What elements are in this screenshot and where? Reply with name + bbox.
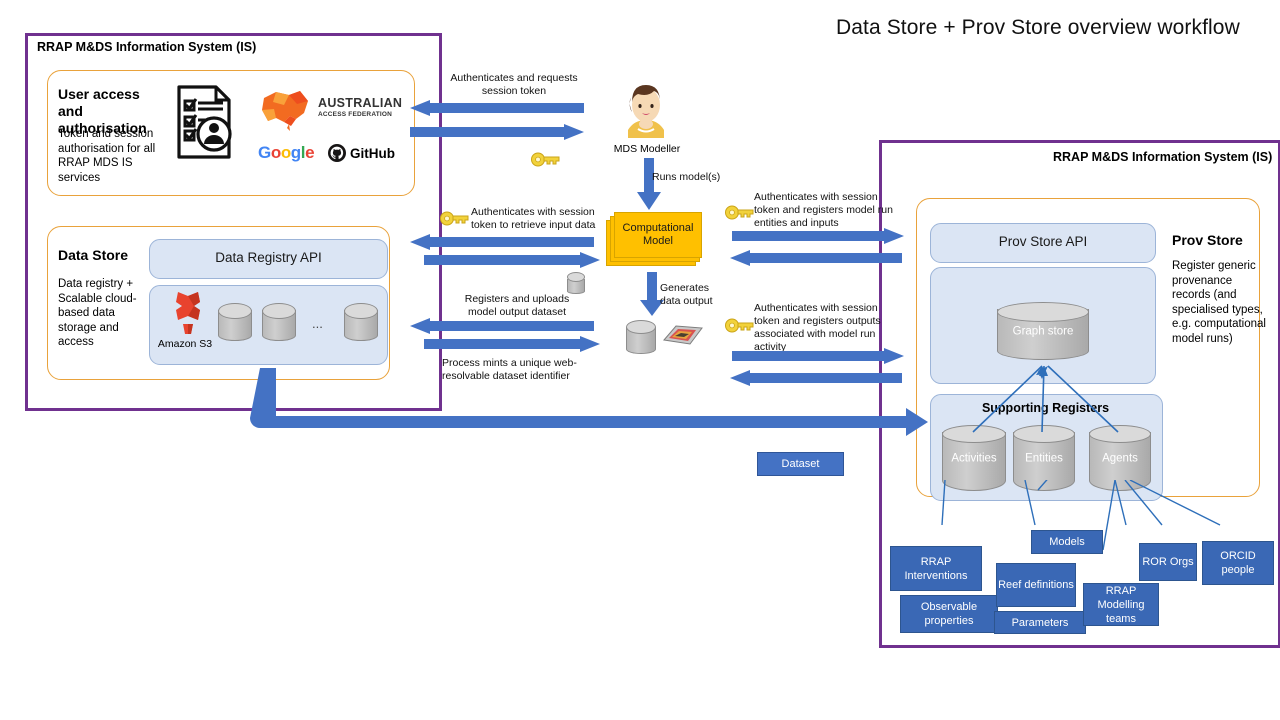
mint-identifier-arrow-right [424,336,600,352]
auth-request-arrow-left [410,100,584,116]
auth-request-label: Authenticates and requests session token [447,72,581,98]
register-box-label: Reef definitions [998,578,1074,592]
register-run-entities-label: Authenticates with session token and reg… [754,191,904,230]
data-cylinder [262,303,296,341]
runs-model-arrow [637,158,661,210]
prov-store-api-box[interactable]: Prov Store API [930,223,1156,263]
output-cylinder [626,320,656,354]
storage-ellipsis: ... [312,316,323,331]
register-cylinder-activities[interactable]: Activities [942,425,1006,491]
amazon-s3-icon [172,290,204,336]
register-box-label: RRAP Interventions [891,555,981,583]
register-box-label: ORCID people [1203,549,1273,577]
register-run-entities-arrow-left [730,250,902,266]
retrieve-input-label: Authenticates with session token to retr… [471,206,611,232]
register-box-label: Models [1049,535,1084,549]
right-frame-title: RRAP M&DS Information System (IS) [1053,150,1272,164]
diagram-canvas: Data Store + Prov Store overview workflo… [0,0,1280,720]
register-box-reef-definitions[interactable]: Reef definitions [996,563,1076,607]
github-icon [328,144,346,162]
data-cylinder [344,303,378,341]
github-logo: GitHub [328,143,404,163]
prov-store-api-label: Prov Store API [931,234,1155,249]
data-registry-api-box[interactable]: Data Registry API [149,239,388,279]
checklist-person-icon [176,84,234,160]
register-box-label: Observable properties [901,600,997,628]
supporting-registers-title: Supporting Registers [930,401,1161,415]
register-outputs-label: Authenticates with session token and reg… [754,302,904,354]
graph-store-label: Graph store [997,326,1089,338]
google-logo: Google [258,143,316,163]
page-title: Data Store + Prov Store overview workflo… [836,16,1240,40]
register-upload-label: Registers and uploads model output datas… [450,293,584,319]
dataset-chip[interactable]: Dataset [757,452,844,476]
register-box-rrap-modelling-teams[interactable]: RRAP Modelling teams [1083,583,1159,626]
register-run-entities-arrow-right [732,228,904,244]
prov-store-heading: Prov Store [1172,232,1243,249]
mds-modeller-label: MDS Modeller [607,143,687,155]
prov-store-description: Register generic provenance records (and… [1172,259,1268,346]
runs-model-label: Runs model(s) [652,171,720,184]
register-label-activities: Activities [942,453,1006,465]
retrieve-input-arrow-left [410,234,594,250]
data-store-description: Data registry + Scalable cloud-based dat… [58,277,144,350]
register-cylinder-agents[interactable]: Agents [1089,425,1151,491]
register-box-models[interactable]: Models [1031,530,1103,554]
left-frame-title: RRAP M&DS Information System (IS) [37,40,256,54]
register-box-orcid-people[interactable]: ORCID people [1202,541,1274,585]
mds-modeller-avatar [620,82,672,138]
graph-store-cylinder: Graph store [997,302,1089,360]
dataset-chip-label: Dataset [782,458,820,470]
data-registry-api-label: Data Registry API [150,250,387,265]
register-label-entities: Entities [1013,453,1075,465]
computational-model-card[interactable]: Computational Model [606,212,700,264]
dataset-cylinder-small [567,272,585,294]
register-cylinder-entities[interactable]: Entities [1013,425,1075,491]
key-icon [725,318,751,331]
register-box-observable-properties[interactable]: Observable properties [900,595,998,633]
auth-request-arrow-right [410,124,584,140]
key-icon [531,152,557,165]
data-store-heading: Data Store [58,247,128,264]
register-box-label: RRAP Modelling teams [1084,584,1158,626]
key-icon [440,211,466,224]
register-outputs-arrow-right [732,348,904,364]
dataset-flow-elbow-arrow [250,368,940,438]
register-box-parameters[interactable]: Parameters [994,611,1086,634]
aaf-logo-line2: ACCESS FEDERATION [318,111,402,118]
aaf-logo-line1: AUSTRALIAN [318,96,402,110]
data-cylinder [218,303,252,341]
register-label-agents: Agents [1089,453,1151,465]
user-access-description: Token and session authorisation for all … [58,127,168,185]
register-box-ror-orgs[interactable]: ROR Orgs [1139,543,1197,581]
australian-access-federation-logo: AUSTRALIAN ACCESS FEDERATION [256,88,384,136]
generates-output-label: Generates data output [660,282,730,308]
key-icon [725,205,751,218]
register-upload-arrow-left [410,318,594,334]
amazon-s3-label: Amazon S3 [152,338,218,350]
register-box-rrap-interventions[interactable]: RRAP Interventions [890,546,982,591]
register-box-label: Parameters [1012,616,1069,630]
register-box-label: ROR Orgs [1142,555,1193,569]
github-label: GitHub [350,146,395,161]
computational-model-label: Computational Model [614,212,702,258]
retrieve-input-arrow-right [424,252,600,268]
map-output-icon [662,322,704,348]
